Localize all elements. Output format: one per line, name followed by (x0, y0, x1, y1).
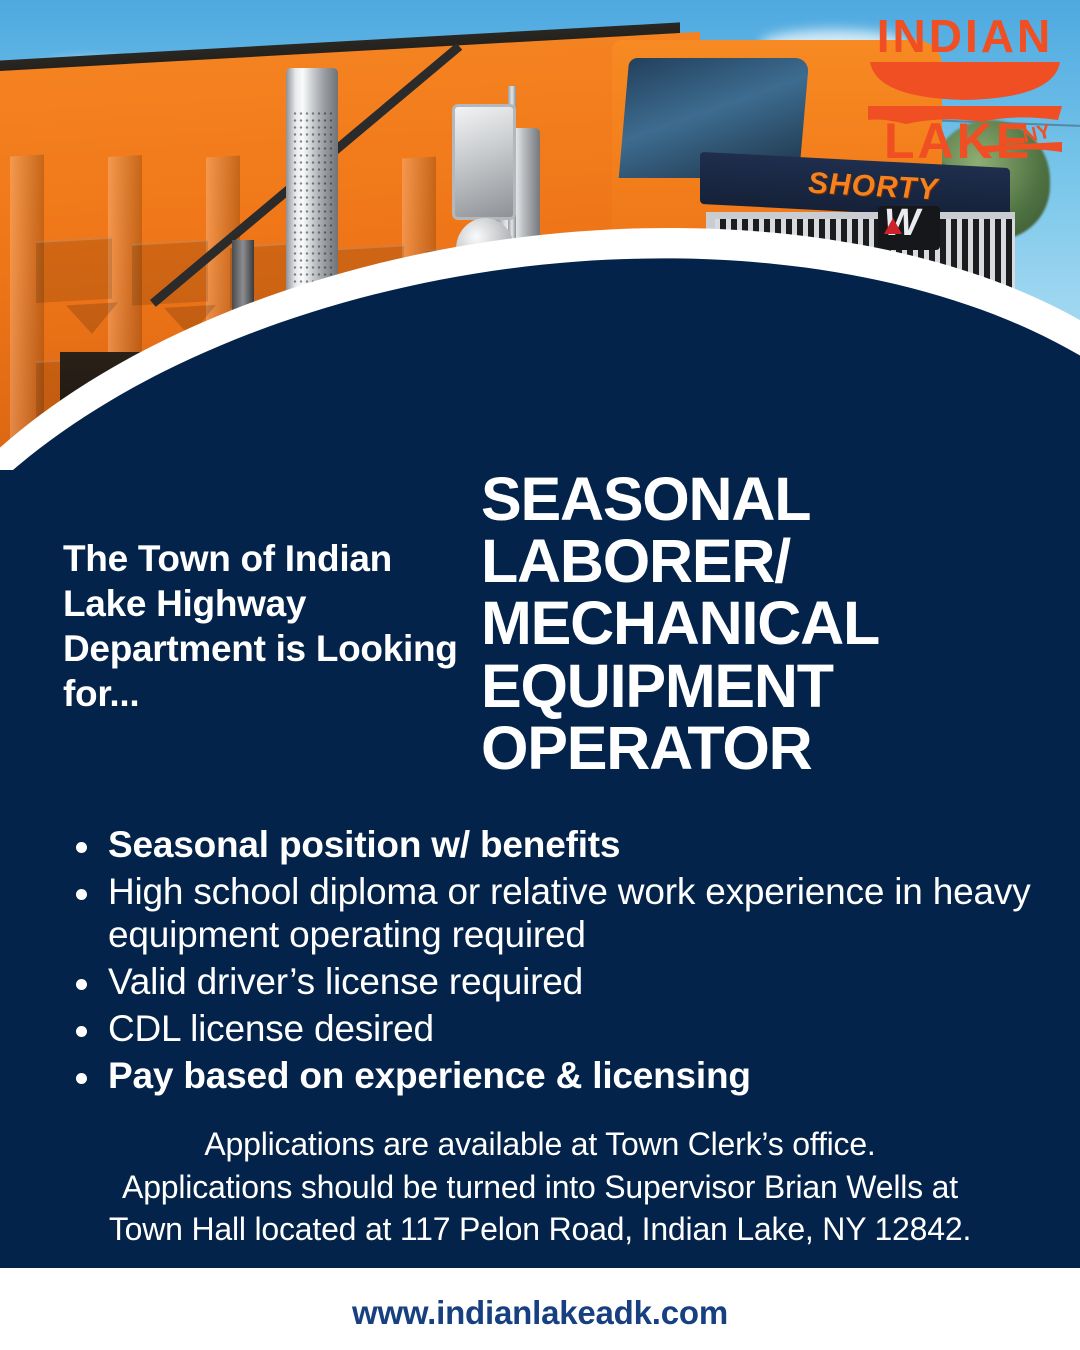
title-line-1: SEASONAL (481, 468, 1051, 530)
apply-line-1: Applications are available at Town Clerk… (40, 1123, 1040, 1166)
title-line-2: LABORER/ (481, 530, 1051, 592)
side-mirror (452, 104, 516, 220)
title-line-3: MECHANICAL (481, 592, 1051, 654)
western-star-icon (884, 218, 902, 234)
apply-line-2: Applications should be turned into Super… (40, 1166, 1040, 1209)
list-item: Seasonal position w/ benefits (66, 824, 1046, 867)
job-posting-flyer: SHORTY 186 INDIAN LAKE NY (0, 0, 1080, 1350)
title-line-5: OPERATOR (481, 717, 1051, 779)
requirements-list: Seasonal position w/ benefitsHigh school… (66, 824, 1046, 1101)
page-title: SEASONAL LABORER/ MECHANICAL EQUIPMENT O… (481, 468, 1051, 779)
application-instructions: Applications are available at Town Clerk… (40, 1123, 1040, 1251)
indian-lake-ny-logo[interactable]: INDIAN LAKE NY (862, 6, 1068, 172)
list-item: Pay based on experience & licensing (66, 1055, 1046, 1098)
website-link[interactable]: www.indianlakeadk.com (0, 1294, 1080, 1332)
list-item: Valid driver’s license required (66, 961, 1046, 1004)
list-item: CDL license desired (66, 1008, 1046, 1051)
logo-indian-text: INDIAN (877, 10, 1053, 62)
list-item: High school diploma or relative work exp… (66, 871, 1046, 957)
canoe-icon (870, 62, 1060, 100)
intro-text: The Town of Indian Lake Highway Departme… (63, 536, 463, 717)
apply-line-3: Town Hall located at 117 Pelon Road, Ind… (40, 1208, 1040, 1251)
title-line-4: EQUIPMENT (481, 655, 1051, 717)
logo-lake-text: LAKE (884, 113, 1032, 169)
